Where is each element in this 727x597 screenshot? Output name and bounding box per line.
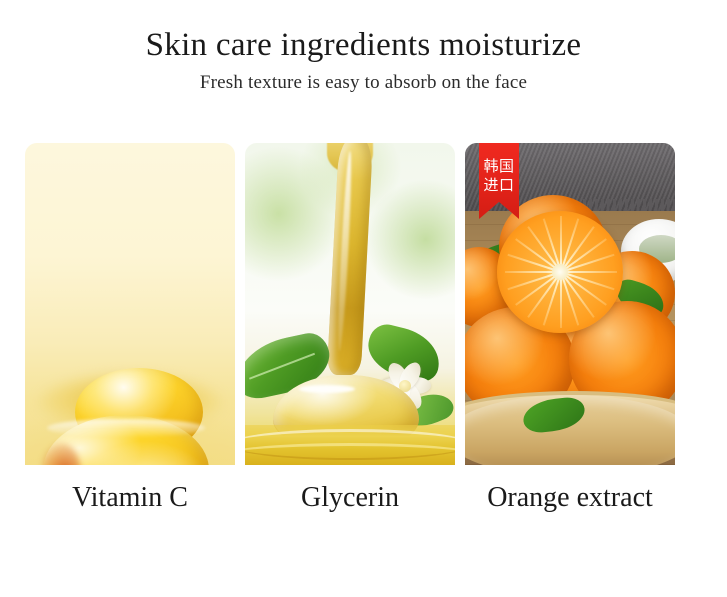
ingredient-image-row: 韩国 进口: [25, 143, 675, 465]
ingredient-label-row: Vitamin C Glycerin Orange extract: [25, 478, 675, 522]
header: Skin care ingredients moisturize Fresh t…: [0, 0, 727, 95]
page-title: Skin care ingredients moisturize: [0, 26, 727, 64]
ingredient-image-orange-extract[interactable]: 韩国 进口: [465, 143, 675, 465]
capsule-highlight: [47, 419, 205, 437]
ingredient-label-orange-extract: Orange extract: [465, 478, 675, 522]
ingredient-label-vitamin-c: Vitamin C: [25, 478, 235, 522]
oil-stream-icon: [327, 143, 373, 375]
ingredient-image-glycerin[interactable]: [245, 143, 455, 465]
oil-ripple-inner: [245, 443, 455, 465]
ribbon-line-2: 进口: [479, 176, 519, 195]
ingredient-label-glycerin: Glycerin: [245, 478, 455, 522]
orange-core: [552, 264, 568, 280]
orange-half-slice-icon: [497, 211, 623, 333]
droplet-highlight: [299, 385, 355, 393]
page-subtitle: Fresh texture is easy to absorb on the f…: [0, 71, 727, 95]
ingredient-image-vitamin-c[interactable]: [25, 143, 235, 465]
ribbon-line-1: 韩国: [479, 157, 519, 176]
